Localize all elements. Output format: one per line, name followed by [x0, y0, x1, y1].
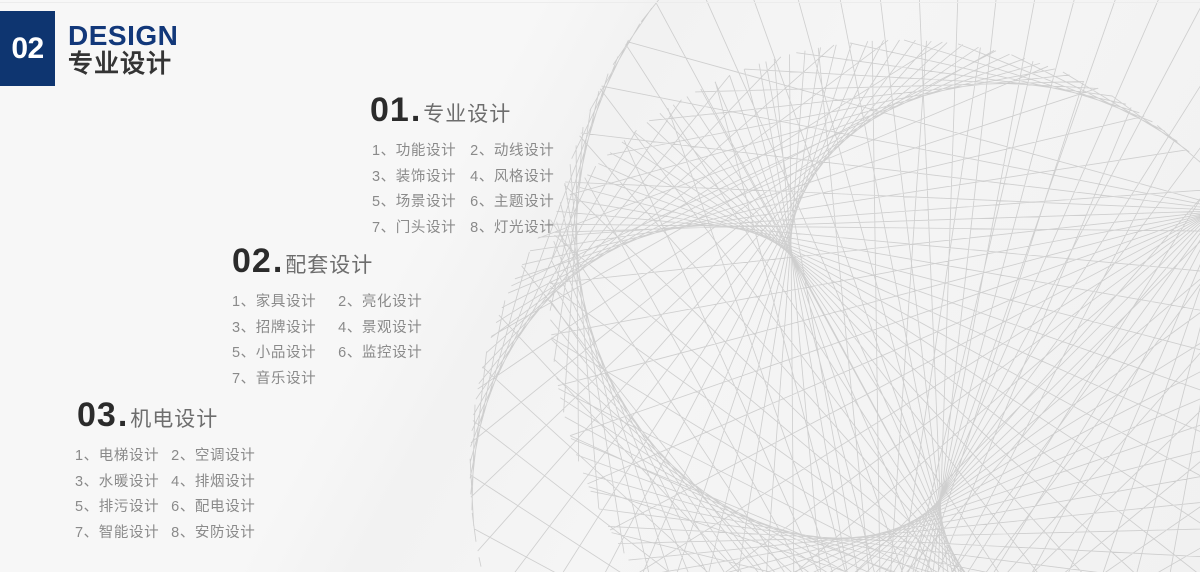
- list-item: 5、小品设计: [232, 345, 316, 362]
- list-item: 1、电梯设计: [75, 448, 159, 465]
- list-item: 6、主题设计: [470, 194, 554, 211]
- list-item: 4、风格设计: [470, 169, 554, 186]
- slide-canvas: 02 DESIGN 专业设计 01 . 专业设计 1、功能设计 2、动线设计 3…: [0, 0, 1200, 572]
- section-01-separator: .: [411, 93, 420, 127]
- list-item: 2、动线设计: [470, 143, 554, 160]
- section-03-heading: 03 . 机电设计: [77, 398, 255, 432]
- content-section-02: 02 . 配套设计 1、家具设计 2、亮化设计 3、招牌设计 4、景观设计 5、…: [232, 244, 422, 388]
- list-item: 5、场景设计: [372, 194, 456, 211]
- section-03-title: 机电设计: [130, 409, 218, 430]
- list-item: 8、灯光设计: [470, 220, 554, 237]
- header-title-english: DESIGN: [68, 21, 178, 50]
- list-item: 3、招牌设计: [232, 320, 316, 337]
- header-title-chinese: 专业设计: [68, 51, 178, 79]
- list-item: 2、空调设计: [171, 448, 255, 465]
- section-badge: 02: [0, 11, 55, 86]
- slide-header: 02 DESIGN 专业设计: [0, 11, 178, 86]
- section-03-item-list: 1、电梯设计 2、空调设计 3、水暖设计 4、排烟设计 5、排污设计 6、配电设…: [75, 448, 255, 542]
- list-item: 7、门头设计: [372, 220, 456, 237]
- section-02-separator: .: [273, 244, 282, 278]
- section-02-heading: 02 . 配套设计: [232, 244, 422, 278]
- list-item: 2、亮化设计: [338, 294, 422, 311]
- section-02-title: 配套设计: [285, 255, 373, 276]
- content-section-01: 01 . 专业设计 1、功能设计 2、动线设计 3、装饰设计 4、风格设计 5、…: [370, 93, 554, 237]
- content-section-03: 03 . 机电设计 1、电梯设计 2、空调设计 3、水暖设计 4、排烟设计 5、…: [77, 398, 255, 542]
- top-hairline-divider: [0, 2, 1200, 3]
- list-item: 5、排污设计: [75, 499, 159, 516]
- section-02-number: 02: [232, 244, 272, 278]
- list-item: 6、监控设计: [338, 345, 422, 362]
- section-badge-number: 02: [11, 34, 43, 64]
- section-01-title: 专业设计: [423, 104, 511, 125]
- list-item: 3、水暖设计: [75, 474, 159, 491]
- list-item: 8、安防设计: [171, 525, 255, 542]
- list-item: 3、装饰设计: [372, 169, 456, 186]
- section-02-item-list: 1、家具设计 2、亮化设计 3、招牌设计 4、景观设计 5、小品设计 6、监控设…: [232, 294, 422, 388]
- list-item: 1、家具设计: [232, 294, 316, 311]
- list-item: 4、景观设计: [338, 320, 422, 337]
- list-item: 6、配电设计: [171, 499, 255, 516]
- list-item: 7、音乐设计: [232, 371, 316, 388]
- section-03-number: 03: [77, 398, 117, 432]
- list-item: 1、功能设计: [372, 143, 456, 160]
- section-01-number: 01: [370, 93, 410, 127]
- list-item: 4、排烟设计: [171, 474, 255, 491]
- section-01-heading: 01 . 专业设计: [370, 93, 554, 127]
- header-title-group: DESIGN 专业设计: [68, 11, 178, 86]
- section-01-item-list: 1、功能设计 2、动线设计 3、装饰设计 4、风格设计 5、场景设计 6、主题设…: [372, 143, 554, 237]
- section-03-separator: .: [118, 398, 127, 432]
- list-item: 7、智能设计: [75, 525, 159, 542]
